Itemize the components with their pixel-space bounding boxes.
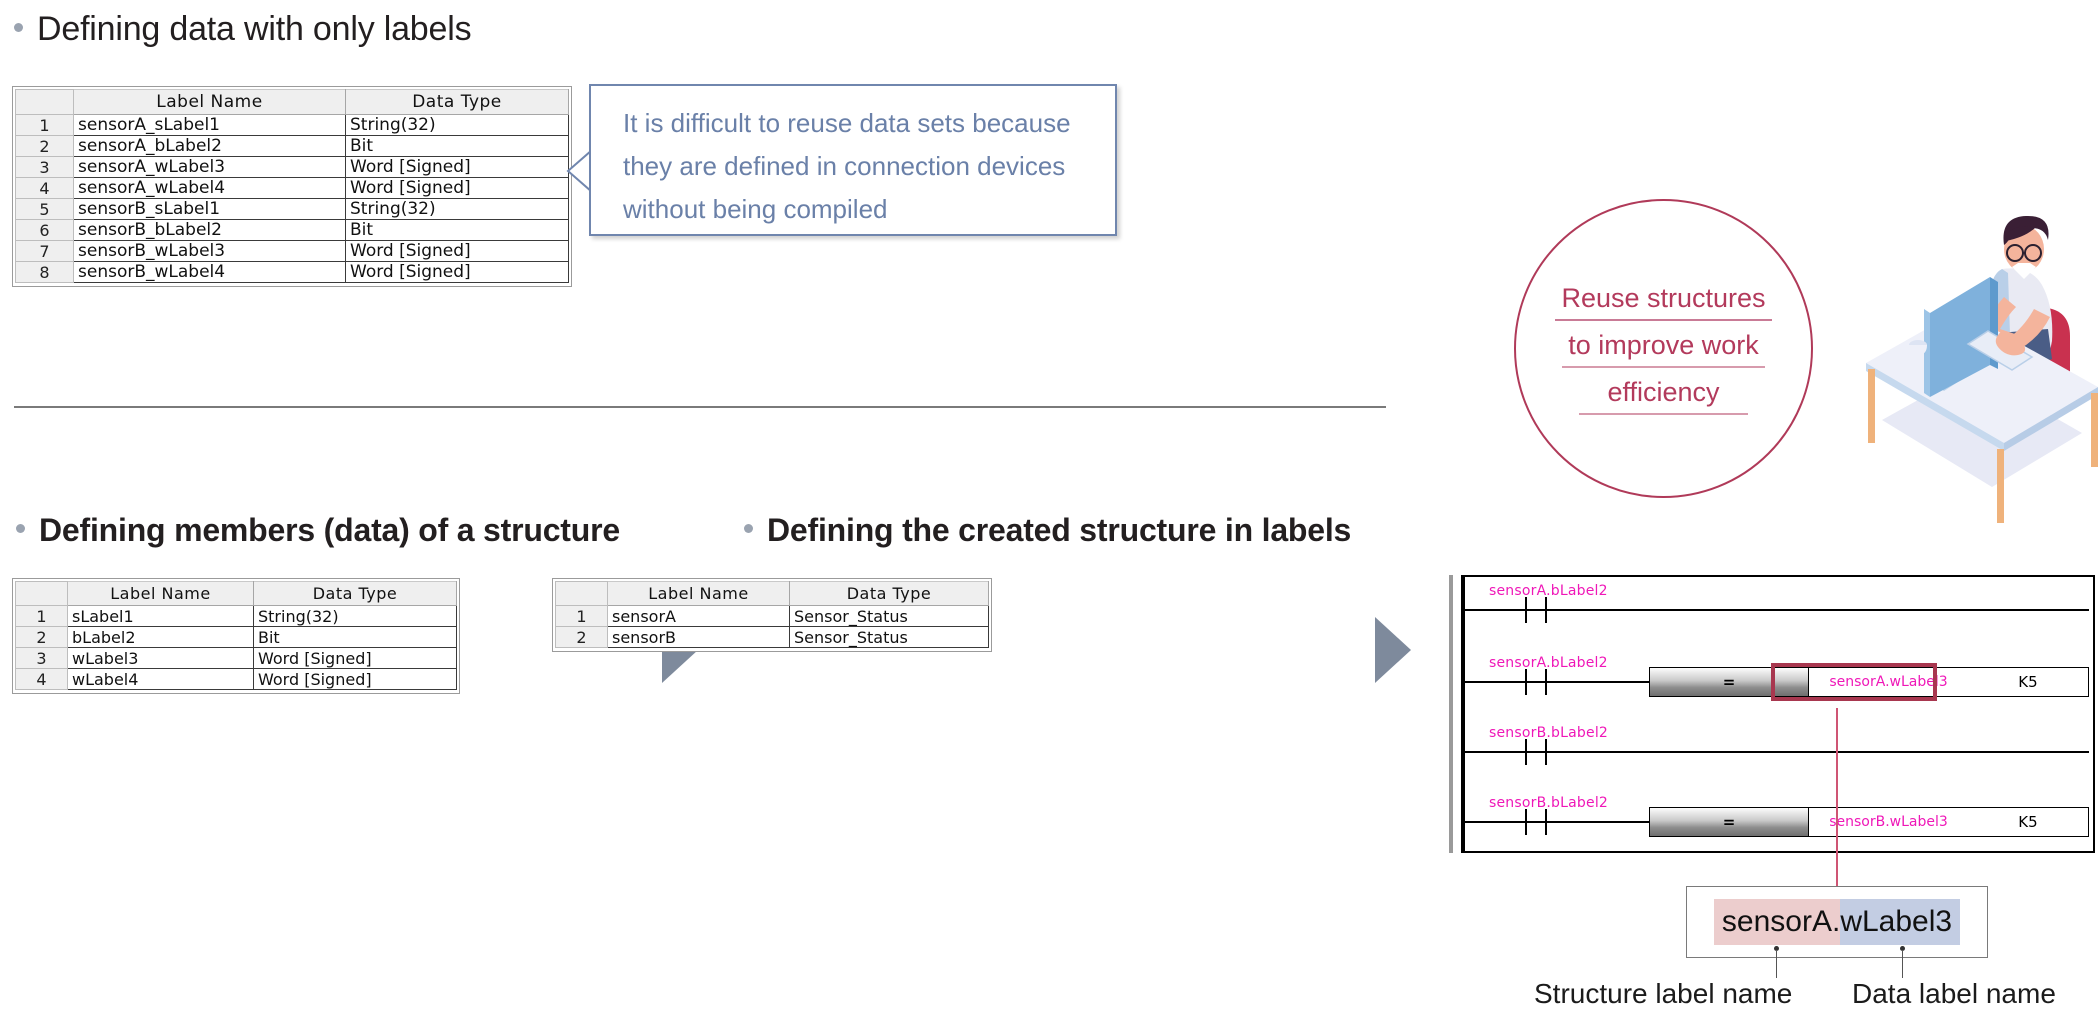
- ladder-contact-label-3: sensorB.bLabel2: [1489, 725, 1608, 741]
- row-number: 1: [16, 606, 68, 627]
- cell-label-name[interactable]: sensorA_bLabel2: [74, 136, 346, 157]
- cell-label-name[interactable]: sensorB: [608, 627, 790, 648]
- ladder-contact-4[interactable]: [1525, 809, 1547, 835]
- row-number: 7: [16, 241, 74, 262]
- cell-label-name[interactable]: sLabel1: [68, 606, 254, 627]
- table-header-row: Label Name Data Type: [556, 582, 989, 606]
- cell-data-type[interactable]: Bit: [254, 627, 457, 648]
- ladder-contact-label-1: sensorA.bLabel2: [1489, 583, 1608, 599]
- data-tick-line: [1902, 950, 1903, 978]
- bullet-dot-icon: [14, 23, 23, 32]
- ladder-program-area: sensorA.bLabel2 sensorA.bLabel2 = sensor…: [1461, 575, 2095, 853]
- row-number: 2: [16, 136, 74, 157]
- row-number: 4: [16, 669, 68, 690]
- circle-line-2: to improve work: [1562, 330, 1765, 368]
- table-row: 8sensorB_wLabel4Word [Signed]: [16, 262, 569, 283]
- table-corner-cell: [556, 582, 608, 606]
- cell-label-name[interactable]: sensorB_wLabel3: [74, 241, 346, 262]
- callout-line-3: without being compiled: [623, 188, 1089, 231]
- cell-label-name[interactable]: sensorB_wLabel4: [74, 262, 346, 283]
- section-divider: [14, 406, 1386, 408]
- cell-label-name[interactable]: sensorA_wLabel4: [74, 178, 346, 199]
- column-header-label-name[interactable]: Label Name: [68, 582, 254, 606]
- column-header-label-name[interactable]: Label Name: [74, 90, 346, 115]
- structure-tick-line: [1776, 950, 1777, 978]
- ladder-contact-3[interactable]: [1525, 739, 1547, 765]
- table-row: 6sensorB_bLabel2Bit: [16, 220, 569, 241]
- table-row: 1sensorASensor_Status: [556, 606, 989, 627]
- ladder-program-panel[interactable]: sensorA.bLabel2 sensorA.bLabel2 = sensor…: [1449, 575, 2095, 853]
- cell-label-name[interactable]: sensorA_sLabel1: [74, 115, 346, 136]
- structure-label-caption: Structure label name: [1534, 978, 1792, 1010]
- table-row: 4sensorA_wLabel4Word [Signed]: [16, 178, 569, 199]
- section-title-structure-members: Defining members (data) of a structure: [16, 512, 620, 549]
- row-number: 2: [556, 627, 608, 648]
- table-row: 2bLabel2Bit: [16, 627, 457, 648]
- highlight-box-sensorA-wLabel3: [1771, 663, 1937, 701]
- table-row: 2sensorBSensor_Status: [556, 627, 989, 648]
- label-anatomy-box: sensorA.wLabel3: [1686, 886, 1988, 958]
- data-label-caption: Data label name: [1852, 978, 2056, 1010]
- cell-data-type[interactable]: Bit: [346, 136, 569, 157]
- table-row: 4wLabel4Word [Signed]: [16, 669, 457, 690]
- cell-label-name[interactable]: sensorB_sLabel1: [74, 199, 346, 220]
- row-number: 4: [16, 178, 74, 199]
- cell-data-type[interactable]: Word [Signed]: [346, 262, 569, 283]
- cell-data-type[interactable]: String(32): [346, 115, 569, 136]
- column-header-data-type[interactable]: Data Type: [346, 90, 569, 115]
- cell-label-name[interactable]: wLabel3: [68, 648, 254, 669]
- heading-text: Defining data with only labels: [37, 10, 471, 49]
- reuse-structures-circle-text: Reuse structures to improve work efficie…: [1514, 199, 1813, 498]
- ladder-operator-2: =: [1650, 808, 1809, 836]
- ladder-contact-label-4: sensorB.bLabel2: [1489, 795, 1608, 811]
- table-row: 7sensorB_wLabel3Word [Signed]: [16, 241, 569, 262]
- cell-label-name[interactable]: sensorB_bLabel2: [74, 220, 346, 241]
- structure-members-table[interactable]: Label Name Data Type 1sLabel1String(32) …: [12, 578, 460, 694]
- cell-data-type[interactable]: Bit: [346, 220, 569, 241]
- row-number: 3: [16, 648, 68, 669]
- circle-line-1: Reuse structures: [1555, 283, 1771, 321]
- table-row: 5sensorB_sLabel1String(32): [16, 199, 569, 220]
- ladder-argument-2: sensorB.wLabel3: [1809, 814, 1968, 830]
- right-triangle-arrow-icon: [1375, 617, 1411, 683]
- table-row: 3sensorA_wLabel3Word [Signed]: [16, 157, 569, 178]
- callout-difficult-to-reuse: It is difficult to reuse data sets becau…: [589, 84, 1117, 236]
- circle-line-3: efficiency: [1579, 377, 1747, 415]
- ladder-left-rail: [1463, 577, 1465, 851]
- ladder-contact-2[interactable]: [1525, 669, 1547, 695]
- row-number: 6: [16, 220, 74, 241]
- row-number: 1: [16, 115, 74, 136]
- structure-label-part: sensorA.: [1714, 899, 1840, 945]
- cell-data-type[interactable]: Sensor_Status: [790, 606, 989, 627]
- bullet-dot-icon: [744, 524, 753, 533]
- table-corner-cell: [16, 90, 74, 115]
- data-label-part: wLabel3: [1840, 899, 1960, 945]
- cell-data-type[interactable]: Word [Signed]: [346, 178, 569, 199]
- bullet-dot-icon: [16, 524, 25, 533]
- cell-data-type[interactable]: Sensor_Status: [790, 627, 989, 648]
- ladder-compare-instruction-2[interactable]: = sensorB.wLabel3 K5: [1649, 807, 2089, 837]
- cell-label-name[interactable]: wLabel4: [68, 669, 254, 690]
- callout-line-2: they are defined in connection devices: [623, 145, 1089, 188]
- person-at-desk-illustration: [1852, 205, 2100, 535]
- labels-only-table[interactable]: Label Name Data Type 1sensorA_sLabel1Str…: [12, 86, 572, 287]
- table-row: 3wLabel3Word [Signed]: [16, 648, 457, 669]
- cell-label-name[interactable]: sensorA: [608, 606, 790, 627]
- cell-data-type[interactable]: Word [Signed]: [254, 648, 457, 669]
- structure-labels-table[interactable]: Label Name Data Type 1sensorASensor_Stat…: [552, 578, 992, 652]
- ladder-contact-1[interactable]: [1525, 597, 1547, 623]
- table-corner-cell: [16, 582, 68, 606]
- row-number: 5: [16, 199, 74, 220]
- table-row: 1sensorA_sLabel1String(32): [16, 115, 569, 136]
- cell-data-type[interactable]: Word [Signed]: [346, 157, 569, 178]
- table-row: 2sensorA_bLabel2Bit: [16, 136, 569, 157]
- column-header-label-name[interactable]: Label Name: [608, 582, 790, 606]
- cell-data-type[interactable]: Word [Signed]: [346, 241, 569, 262]
- ladder-rung-line-3: [1465, 751, 2089, 753]
- ladder-contact-label-2: sensorA.bLabel2: [1489, 655, 1608, 671]
- ladder-rung-line-1: [1465, 609, 2089, 611]
- heading-text: Defining members (data) of a structure: [39, 512, 620, 549]
- column-header-data-type[interactable]: Data Type: [790, 582, 989, 606]
- heading-text: Defining the created structure in labels: [767, 512, 1351, 549]
- cell-data-type[interactable]: Word [Signed]: [254, 669, 457, 690]
- callout-line-1: It is difficult to reuse data sets becau…: [623, 102, 1089, 145]
- table-header-row: Label Name Data Type: [16, 90, 569, 115]
- row-number: 3: [16, 157, 74, 178]
- row-number: 8: [16, 262, 74, 283]
- row-number: 1: [556, 606, 608, 627]
- ladder-constant-1: K5: [1968, 673, 2088, 691]
- callout-leader-line: [1836, 708, 1838, 891]
- cell-data-type[interactable]: String(32): [346, 199, 569, 220]
- section-title-structure-labels: Defining the created structure in labels: [744, 512, 1351, 549]
- row-number: 2: [16, 627, 68, 648]
- column-header-data-type[interactable]: Data Type: [254, 582, 457, 606]
- table-header-row: Label Name Data Type: [16, 582, 457, 606]
- page-title-labels-only: Defining data with only labels: [14, 10, 471, 49]
- cell-data-type[interactable]: String(32): [254, 606, 457, 627]
- cell-label-name[interactable]: bLabel2: [68, 627, 254, 648]
- ladder-constant-2: K5: [1968, 813, 2088, 831]
- table-row: 1sLabel1String(32): [16, 606, 457, 627]
- cell-label-name[interactable]: sensorA_wLabel3: [74, 157, 346, 178]
